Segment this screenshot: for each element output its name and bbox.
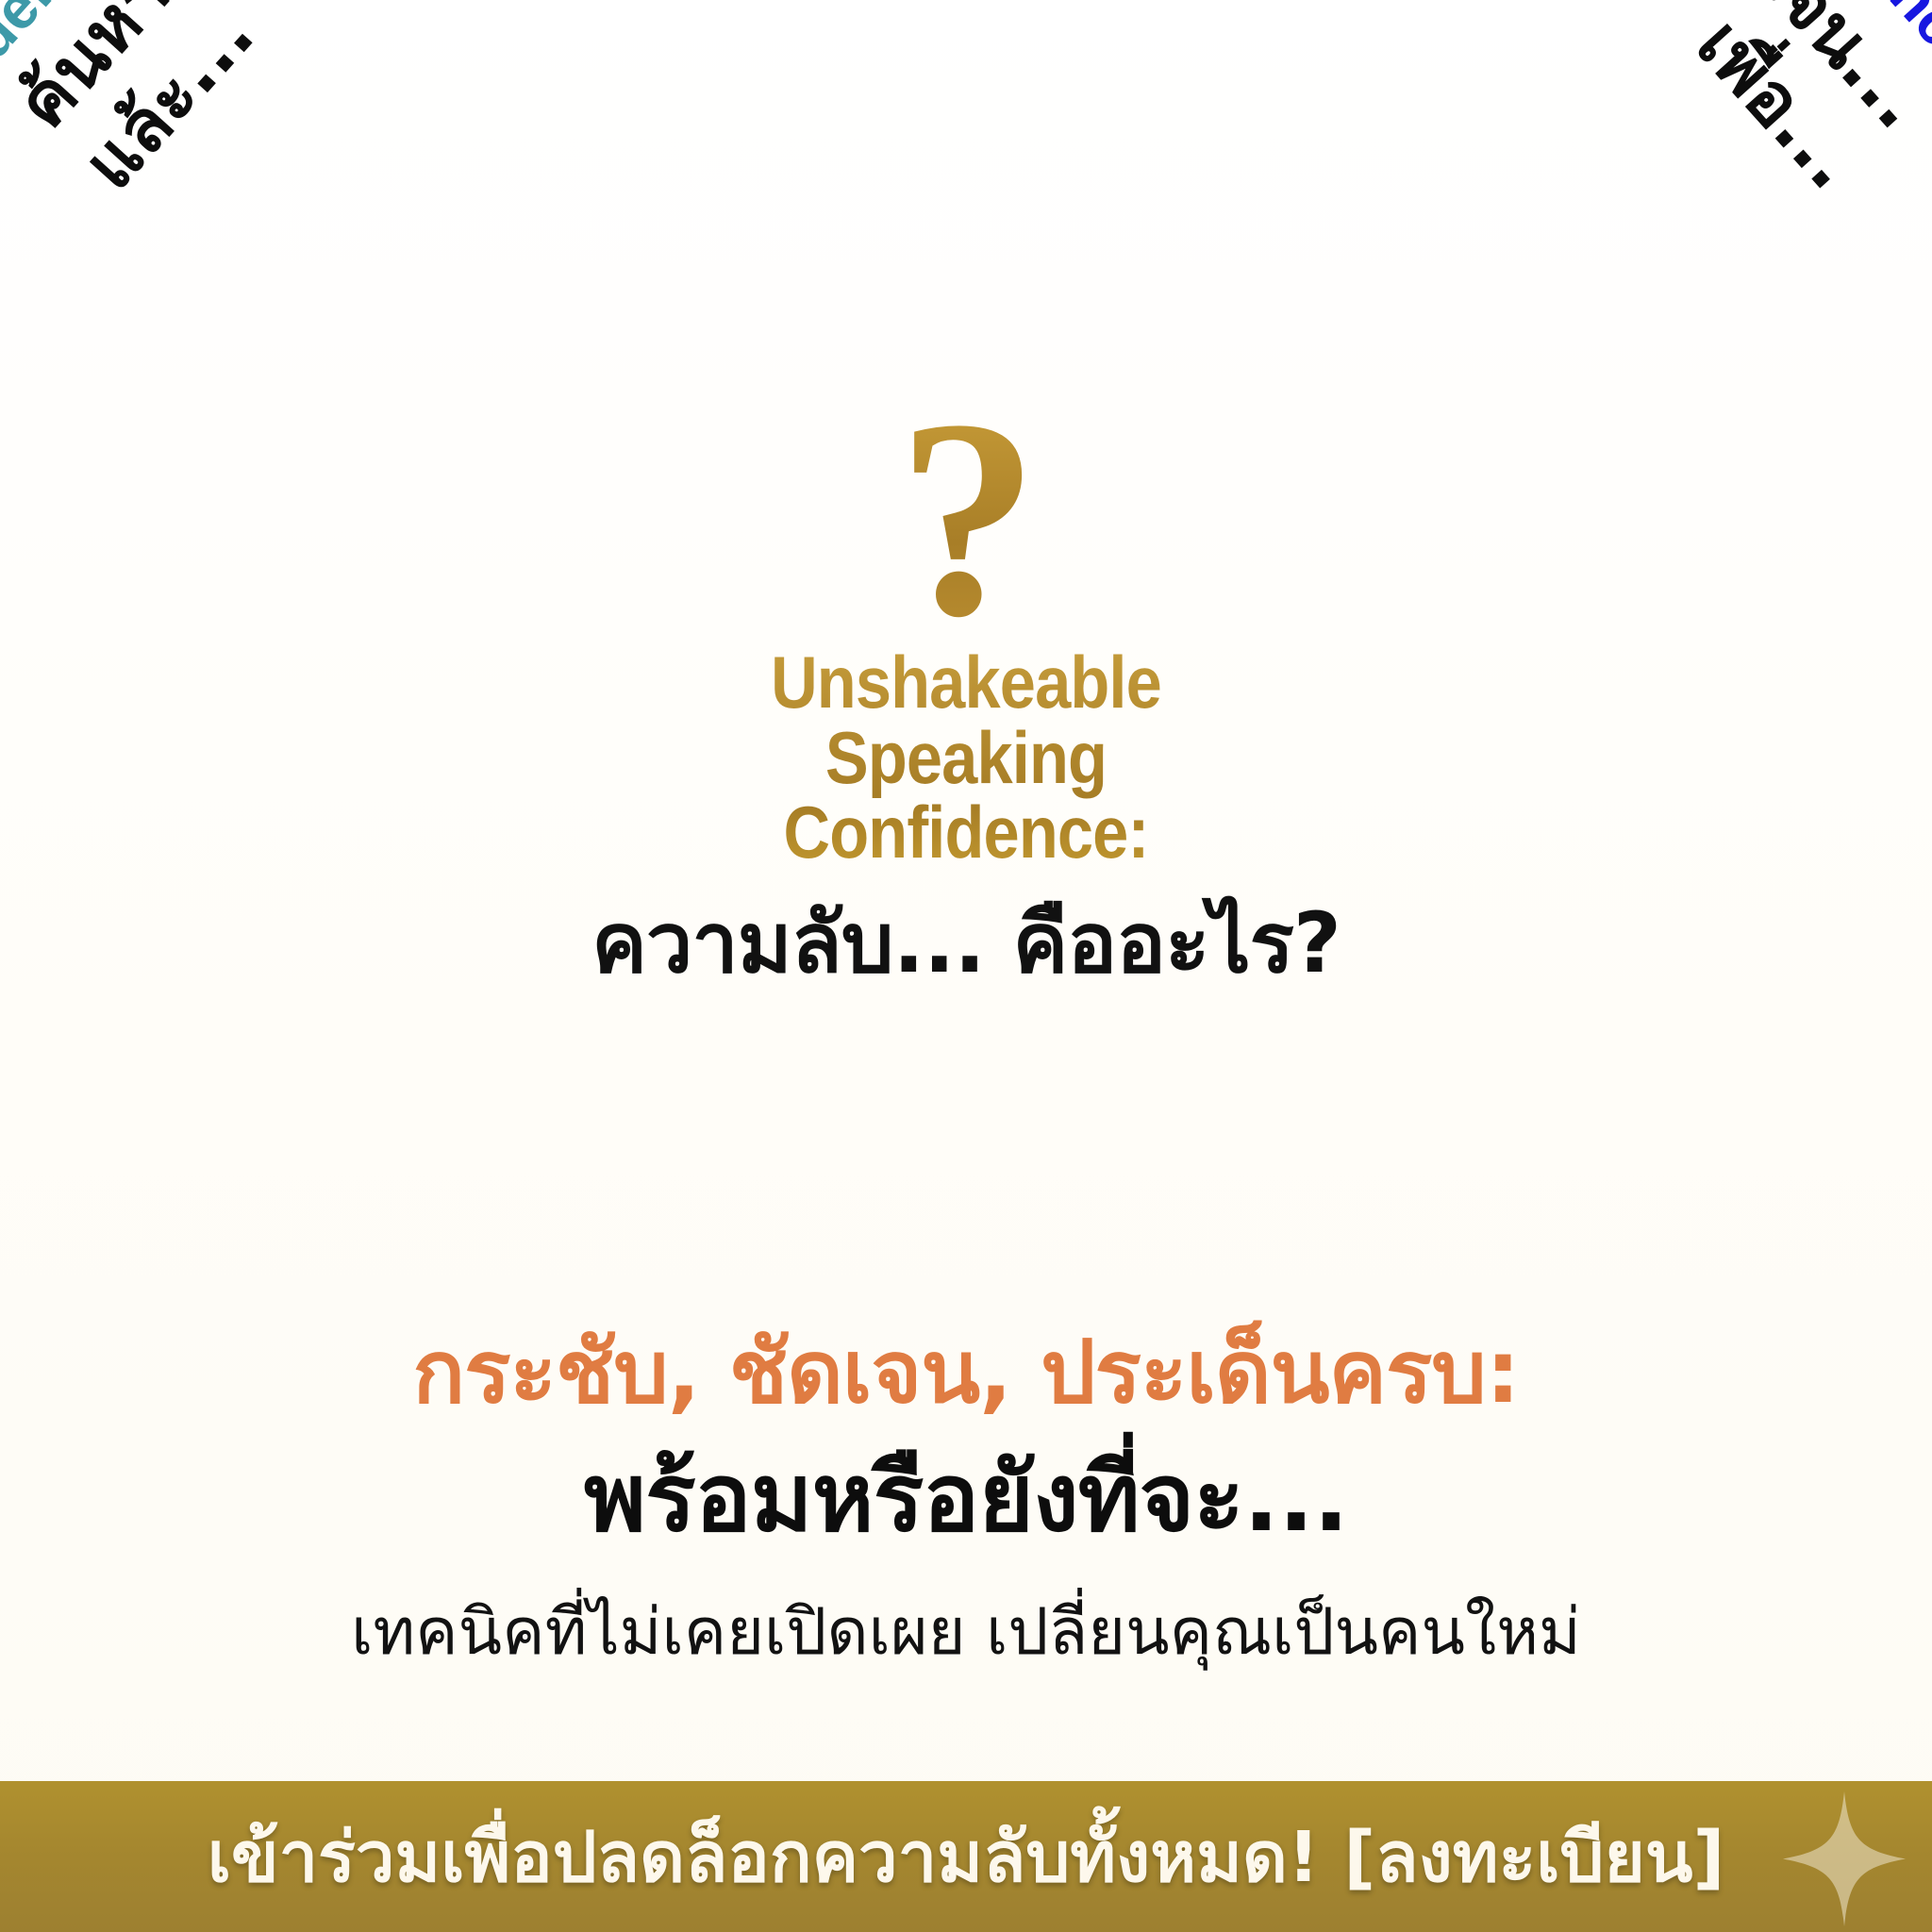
- headline-english-line1: Unshakeable: [617, 645, 1314, 721]
- sparkle-icon: [1783, 1790, 1906, 1927]
- cta-bar[interactable]: เข้าร่วมเพื่อปลดล็อกความลับทั้งหมด! [ลงท…: [0, 1781, 1932, 1932]
- headline-english-line3: Confidence:: [617, 795, 1314, 871]
- question-mark-icon: ?: [570, 396, 1362, 640]
- bottom-message-block: กระชับ, ชัดเจน, ประเด็นครบ: พร้อมหรือยัง…: [0, 1321, 1932, 1673]
- cta-label[interactable]: เข้าร่วมเพื่อปลดล็อกความลับทั้งหมด! [ลงท…: [208, 1801, 1725, 1912]
- headline-english-line2: Speaking: [617, 721, 1314, 796]
- bottom-headline-black: พร้อมหรือยังที่จะ...: [0, 1441, 1932, 1555]
- bottom-headline-orange: กระชับ, ชัดเจน, ประเด็นครบ:: [0, 1321, 1932, 1424]
- poster-canvas: ? Unshakeable Speaking Confidence: ความล…: [0, 0, 1932, 1932]
- headline-english: Unshakeable Speaking Confidence:: [617, 645, 1314, 871]
- triangle-content: ? Unshakeable Speaking Confidence: ความล…: [570, 396, 1362, 990]
- bottom-subline: เทคนิคที่ไม่เคยเปิดเผย เปลี่ยนคุณเป็นคนใ…: [0, 1592, 1932, 1673]
- headline-thai-question: ความลับ... คืออะไร?: [570, 897, 1362, 991]
